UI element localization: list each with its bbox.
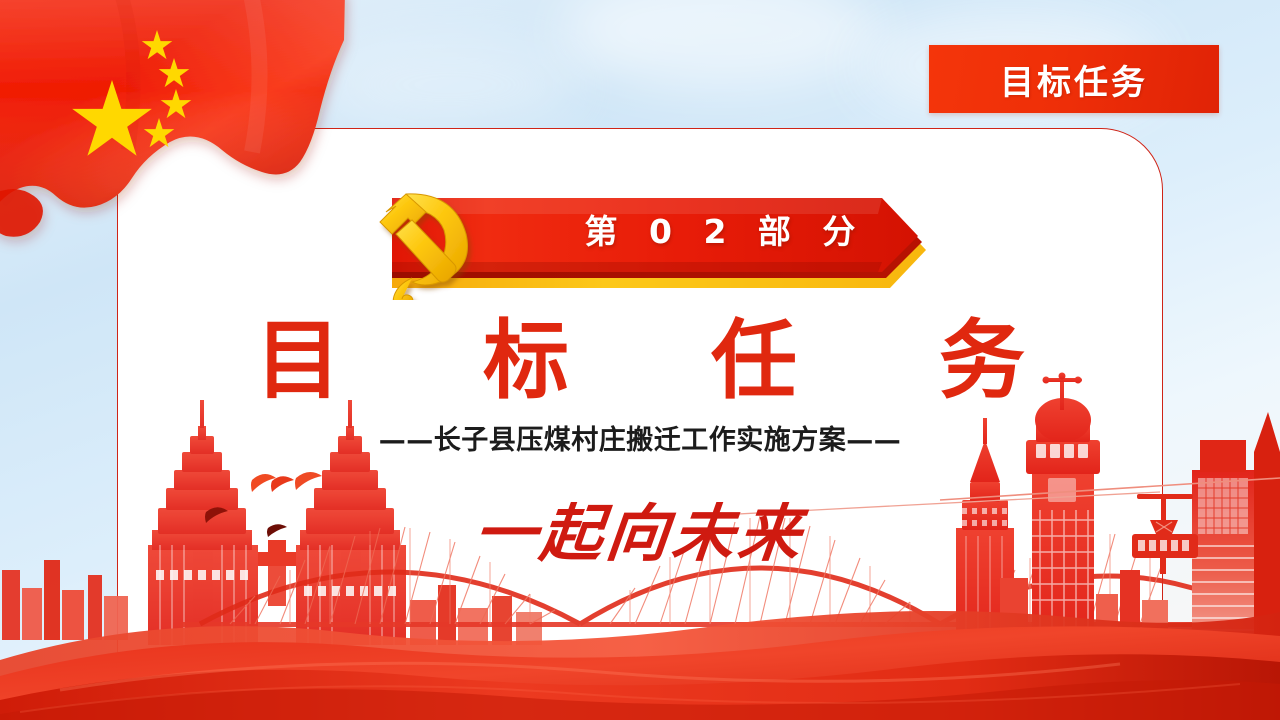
slogan-text: 一起向未来 xyxy=(0,483,1280,573)
cloud-decor xyxy=(560,0,880,90)
cloud-decor xyxy=(320,40,580,130)
page-title: 目 标 任 务 xyxy=(0,318,1280,404)
section-number-label: 第 0 2 部 分 xyxy=(530,198,910,260)
section-badge[interactable]: 目标任务 xyxy=(929,45,1219,113)
page-subtitle: ——长子县压煤村庄搬迁工作实施方案—— xyxy=(0,418,1280,457)
section-badge-label: 目标任务 xyxy=(1000,55,1148,104)
section-ribbon: 第 0 2 部 分 xyxy=(370,172,940,300)
cpc-hammer-sickle-icon xyxy=(362,178,488,300)
slide-root: 目标任务 xyxy=(0,0,1280,720)
